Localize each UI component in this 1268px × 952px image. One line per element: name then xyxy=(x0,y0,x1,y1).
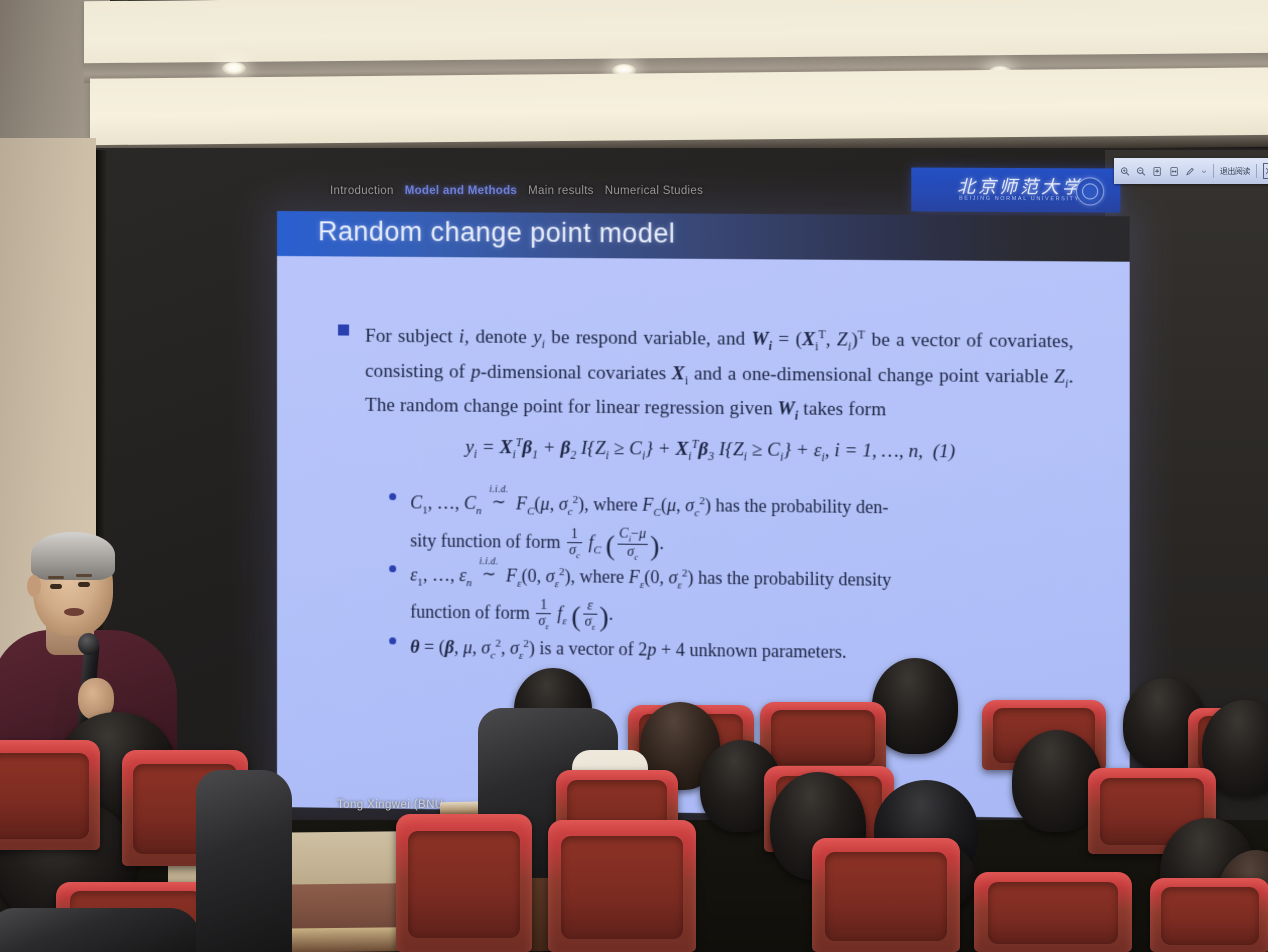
fit-width-icon[interactable] xyxy=(1169,164,1179,179)
university-name-english: BEIJING NORMAL UNIVERSITY xyxy=(959,196,1080,203)
nav-item-introduction[interactable]: Introduction xyxy=(330,185,394,197)
fraction: 1σc xyxy=(567,527,582,561)
seat xyxy=(760,702,886,772)
bullet-main-text: For subject i, denote yi be respond vari… xyxy=(365,318,1073,433)
page-title: Random change point model xyxy=(318,216,675,249)
slide-navigation: Introduction Model and Methods Main resu… xyxy=(330,182,750,200)
fraction: εσε xyxy=(583,598,597,632)
iid-symbol: i.i.d.∼ xyxy=(489,486,508,510)
zoom-in-icon[interactable] xyxy=(1120,164,1130,179)
ceiling-light xyxy=(222,62,246,75)
square-bullet-icon xyxy=(338,324,349,335)
presenter-brow xyxy=(48,576,64,579)
toolbar-divider xyxy=(1256,164,1257,178)
round-bullet-icon xyxy=(389,637,396,644)
presenter-hair xyxy=(31,532,115,580)
sub-bullet-C: C1, …, Cn i.i.d.∼ FC(μ, σc2), where FC(μ… xyxy=(410,485,1078,569)
fraction: Ci−μσc xyxy=(617,526,648,562)
fraction: 1σε xyxy=(536,598,550,632)
bullet-main: For subject i, denote yi be respond vari… xyxy=(365,318,1073,433)
zoom-out-icon[interactable] xyxy=(1136,164,1146,179)
presenter-eye xyxy=(50,584,62,589)
chevron-down-icon[interactable] xyxy=(1201,164,1207,179)
exit-reading-label[interactable]: 退出阅读 xyxy=(1220,166,1250,177)
seat xyxy=(1150,878,1268,952)
pen-icon[interactable] xyxy=(1185,164,1195,179)
presenter-eye xyxy=(78,582,90,587)
presenter-brow xyxy=(76,574,92,577)
seat xyxy=(0,740,100,850)
round-bullet-icon xyxy=(389,493,396,500)
equation-number: (1) xyxy=(933,441,956,462)
presenter-ear xyxy=(27,575,41,597)
seat xyxy=(548,820,696,952)
nav-item-numerical-studies[interactable]: Numerical Studies xyxy=(605,185,703,197)
audience-coat xyxy=(0,908,200,952)
university-banner: 北京师范大学 BEIJING NORMAL UNIVERSITY xyxy=(911,168,1120,213)
presenter-mouth xyxy=(64,608,84,616)
pdf-reader-toolbar[interactable]: 退出阅读 X xyxy=(1114,158,1268,184)
fit-page-icon[interactable] xyxy=(1152,164,1162,179)
seat xyxy=(396,814,532,952)
sub-bullet-epsilon: ε1, …, εn i.i.d.∼ Fε(0, σε2), where Fε(0… xyxy=(410,557,1078,640)
equation-1: yi = XiTβ1 + β2 I{Zi ≥ Ci} + XiTβ3 I{Zi … xyxy=(347,435,1075,468)
audience-coat xyxy=(196,770,292,952)
close-icon[interactable]: X xyxy=(1263,163,1268,179)
seat xyxy=(812,838,960,952)
toolbar-divider xyxy=(1213,164,1214,178)
nav-item-model-and-methods[interactable]: Model and Methods xyxy=(405,185,517,197)
iid-symbol: i.i.d.∼ xyxy=(479,558,498,582)
audience xyxy=(0,650,1268,952)
seat xyxy=(974,872,1132,952)
slide-title-bar: Random change point model xyxy=(277,211,1130,262)
university-seal-icon xyxy=(1076,177,1104,205)
round-bullet-icon xyxy=(389,565,396,572)
lecture-hall-photo: Introduction Model and Methods Main resu… xyxy=(0,0,1268,952)
nav-item-main-results[interactable]: Main results xyxy=(528,185,594,197)
